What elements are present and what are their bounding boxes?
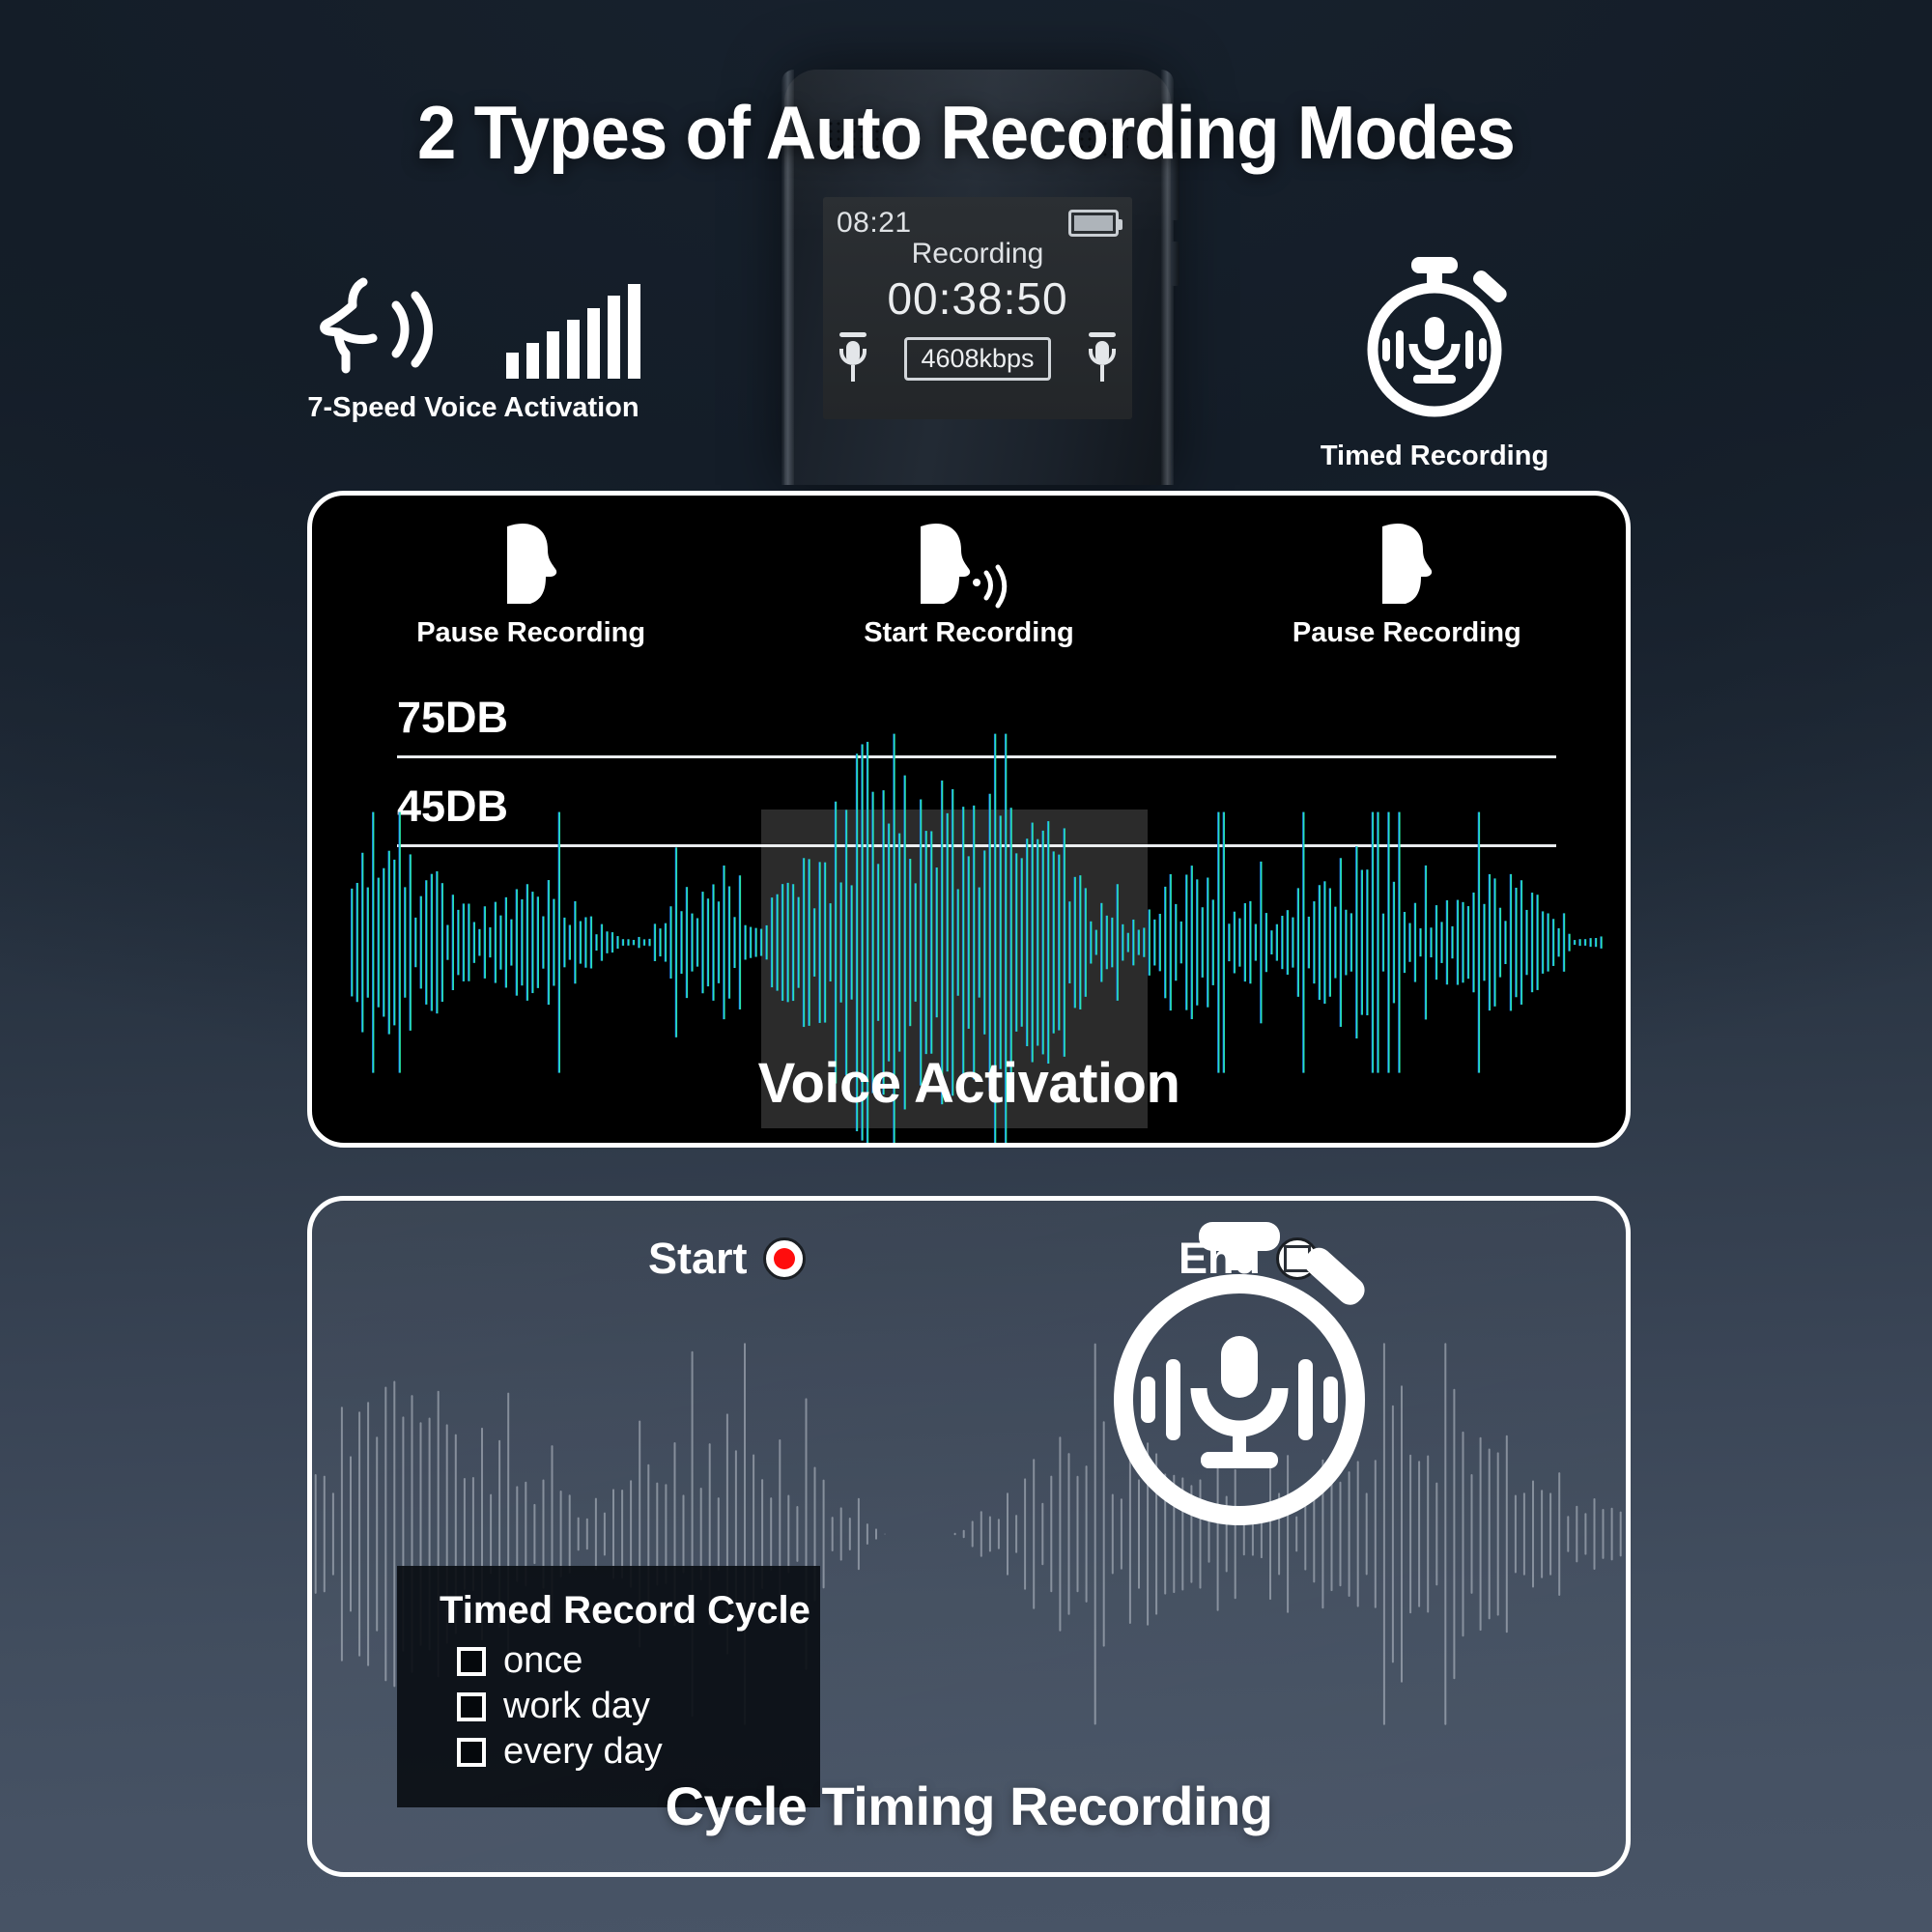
head-state-pause-left: Pause Recording <box>312 517 750 649</box>
cycle-option-work-day[interactable]: work day <box>457 1686 820 1727</box>
page-title: 2 Types of Auto Recording Modes <box>68 89 1864 177</box>
microphone-icon-left <box>837 332 869 384</box>
cycle-option-label: every day <box>503 1731 663 1773</box>
checkbox-icon[interactable] <box>457 1692 486 1721</box>
cycle-title: Timed Record Cycle <box>440 1589 820 1633</box>
screen-clock: 08:21 <box>837 207 912 240</box>
speaking-head-icon <box>307 272 500 379</box>
feature-label-timed-recording: Timed Recording <box>1275 440 1594 472</box>
screen-bottom-row: 4608kbps <box>837 332 1119 384</box>
device-side-button-lower[interactable] <box>1171 241 1179 286</box>
head-states-row: Pause Recording Start Recording <box>312 517 1626 649</box>
head-silhouette-icon <box>1188 517 1626 610</box>
stopwatch-microphone-icon <box>1348 253 1521 427</box>
microphone-icon-right <box>1086 332 1119 384</box>
record-dot-icon[interactable] <box>763 1237 806 1280</box>
checkbox-icon[interactable] <box>457 1647 486 1676</box>
checkbox-icon[interactable] <box>457 1738 486 1767</box>
feature-voice-activation: 7-Speed Voice Activation <box>290 263 657 424</box>
speaking-head-with-bars-icon <box>290 263 657 379</box>
device-screen: 08:21 Recording 00:38:50 4608kbps <box>823 197 1132 419</box>
start-marker: Start <box>648 1234 806 1284</box>
head-state-pause-right: Pause Recording <box>1188 517 1626 649</box>
head-silhouette-icon <box>312 517 750 610</box>
cycle-option-label: once <box>503 1640 582 1682</box>
head-state-label: Pause Recording <box>1188 617 1626 649</box>
start-label: Start <box>648 1234 748 1284</box>
bitrate-badge: 4608kbps <box>904 337 1050 381</box>
voice-level-bars-icon <box>506 284 640 379</box>
infographic-canvas: 08:21 Recording 00:38:50 4608kbps 2 Type… <box>0 0 1932 1932</box>
timed-record-cycle-box: Timed Record Cycle once work day every d… <box>397 1566 820 1807</box>
battery-full-icon <box>1068 210 1119 237</box>
stopwatch-microphone-icon-large <box>1094 1216 1384 1541</box>
screen-status-bar: 08:21 <box>837 207 1119 240</box>
screen-status-text: Recording <box>837 238 1119 270</box>
head-silhouette-speaking-icon <box>750 517 1187 610</box>
head-state-start: Start Recording <box>750 517 1187 649</box>
feature-timed-recording: Timed Recording <box>1275 253 1594 472</box>
timed-recording-caption: Cycle Timing Recording <box>312 1775 1626 1837</box>
voice-activation-caption: Voice Activation <box>312 1051 1626 1116</box>
screen-timer: 00:38:50 <box>837 272 1119 325</box>
timed-recording-panel: Start End Timed Reco <box>307 1196 1631 1877</box>
cycle-option-once[interactable]: once <box>457 1640 820 1682</box>
cycle-option-label: work day <box>503 1686 650 1727</box>
feature-label-voice-activation: 7-Speed Voice Activation <box>290 392 657 424</box>
head-state-label: Pause Recording <box>312 617 750 649</box>
cycle-option-every-day[interactable]: every day <box>457 1731 820 1773</box>
head-state-label: Start Recording <box>750 617 1187 649</box>
voice-activation-panel: Pause Recording Start Recording <box>307 491 1631 1148</box>
